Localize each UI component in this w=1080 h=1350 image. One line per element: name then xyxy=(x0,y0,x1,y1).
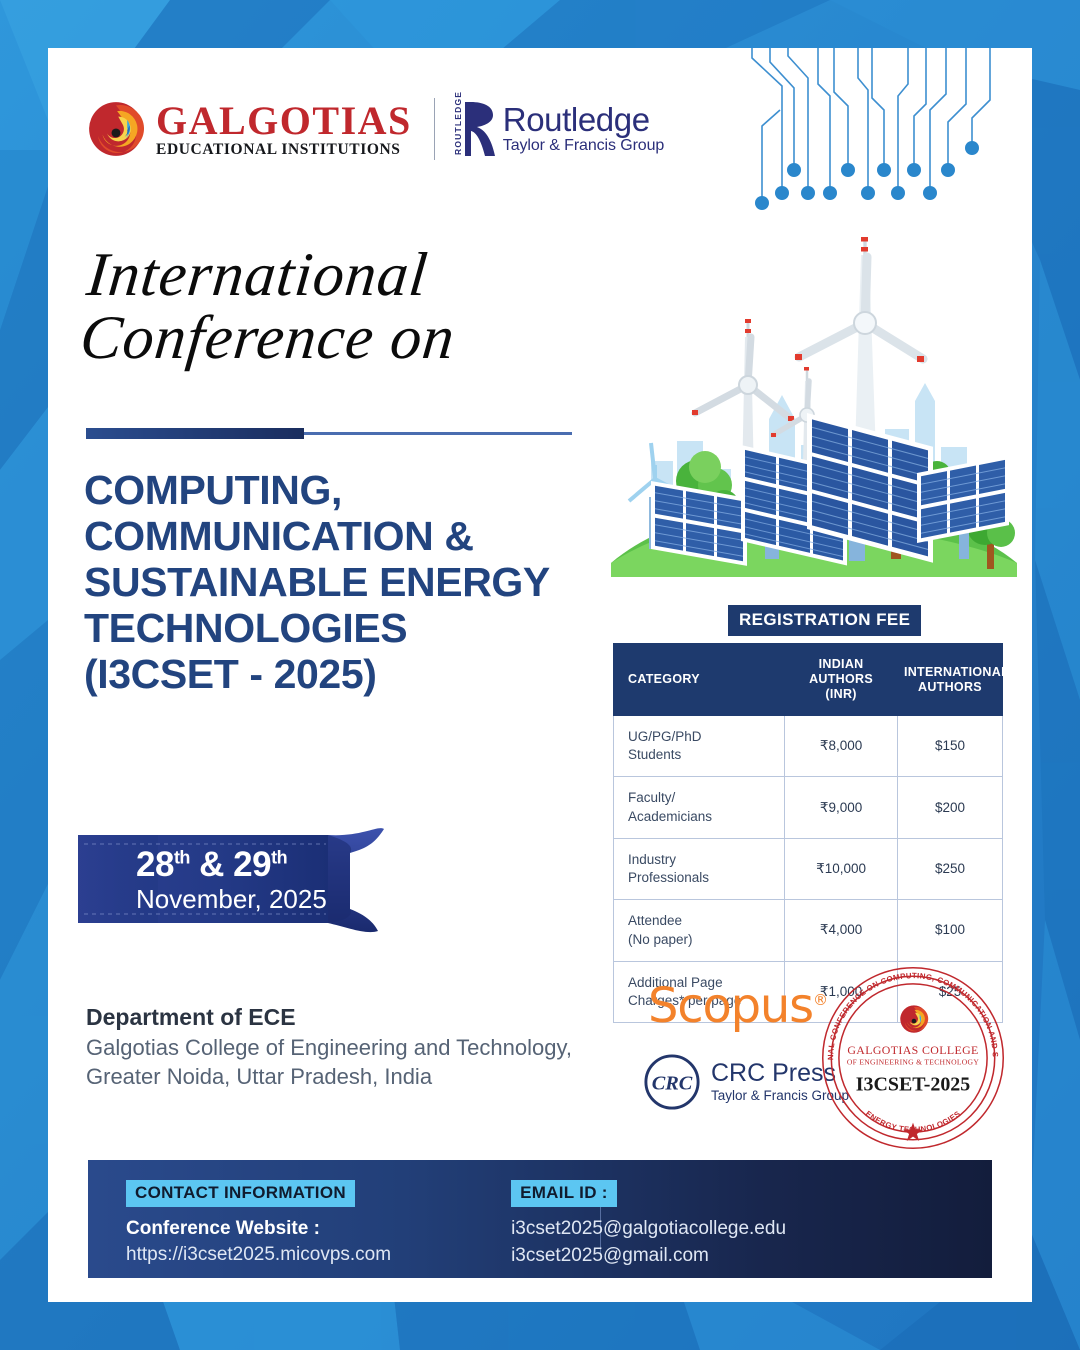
table-row: Faculty/ Academicians ₹9,000 $200 xyxy=(614,777,1003,838)
cell-category: Industry Professionals xyxy=(614,838,785,899)
main-title-line-2: COMMUNICATION & xyxy=(84,514,604,560)
routledge-logo: ROUTLEDGE Routledge Taylor & Francis Gro… xyxy=(453,100,664,158)
scopus-wordmark: Scopus xyxy=(648,978,813,1034)
table-header-row: CATEGORY INDIAN AUTHORS (INR) INTERNATIO… xyxy=(614,644,1003,716)
ribbon-day-2: 29 xyxy=(233,845,271,884)
cell-category-line2: Students xyxy=(628,747,681,762)
routledge-tagline: Taylor & Francis Group xyxy=(503,138,664,155)
galgotias-wordmark: GALGOTIAS xyxy=(156,101,412,141)
main-title-line-1: COMPUTING, xyxy=(84,468,604,514)
main-title-line-3: SUSTAINABLE ENERGY xyxy=(84,560,604,606)
ribbon-day-1-sup: th xyxy=(174,847,190,867)
main-title-line-4: TECHNOLOGIES xyxy=(84,606,604,652)
registration-fee-badge: REGISTRATION FEE xyxy=(728,605,921,636)
contact-information-tag: CONTACT INFORMATION xyxy=(126,1180,355,1207)
cell-category: Faculty/ Academicians xyxy=(614,777,785,838)
department-block: Department of ECE Galgotias College of E… xyxy=(86,1003,572,1091)
conference-script-title: International Conference on xyxy=(77,244,464,370)
cell-usd: $200 xyxy=(897,777,1002,838)
department-heading: Department of ECE xyxy=(86,1003,572,1033)
script-title-line-2: Conference on xyxy=(77,307,458,370)
column-header-indian-authors-line2: (INR) xyxy=(825,687,856,701)
routledge-face-icon xyxy=(465,100,499,158)
email-address-2[interactable]: i3cset2025@gmail.com xyxy=(511,1243,786,1270)
script-title-line-1: International xyxy=(84,244,465,307)
scopus-logo: Scopus® xyxy=(648,978,827,1034)
page-title: COMPUTING, COMMUNICATION & SUSTAINABLE E… xyxy=(84,468,604,698)
routledge-vertical-text: ROUTLEDGE xyxy=(453,103,463,155)
cell-category-line1: Industry xyxy=(628,852,676,867)
title-rule-thick xyxy=(86,428,304,439)
column-header-indian-authors: INDIAN AUTHORS (INR) xyxy=(785,644,898,716)
ribbon-month-year: November, 2025 xyxy=(136,885,327,915)
conference-website-url[interactable]: https://i3cset2025.micovps.com xyxy=(126,1242,391,1269)
email-address-1[interactable]: i3cset2025@galgotiacollege.edu xyxy=(511,1216,786,1243)
cell-category-line1: Attendee xyxy=(628,913,682,928)
ribbon-days: 28th & 29th xyxy=(136,847,327,884)
cell-category: UG/PG/PhD Students xyxy=(614,716,785,777)
header-logos: GALGOTIAS EDUCATIONAL INSTITUTIONS ROUTL… xyxy=(88,98,664,160)
title-rule xyxy=(86,426,572,442)
seal-college-sub: OF ENGINEERING & TECHNOLOGY xyxy=(847,1058,979,1067)
seal-college-name: GALGOTIAS COLLEGE xyxy=(847,1043,978,1057)
contact-right-column: EMAIL ID : i3cset2025@galgotiacollege.ed… xyxy=(391,1160,786,1269)
cell-category-line2: Professionals xyxy=(628,870,709,885)
cell-usd: $150 xyxy=(897,716,1002,777)
cell-inr: ₹8,000 xyxy=(785,716,898,777)
ribbon-day-2-sup: th xyxy=(271,847,287,867)
cell-category-line2: Academicians xyxy=(628,809,712,824)
cell-inr: ₹10,000 xyxy=(785,838,898,899)
galgotias-swirl-icon xyxy=(88,101,144,157)
department-line-1: Galgotias College of Engineering and Tec… xyxy=(86,1033,572,1062)
conference-seal: INTERNATIONAL CONFERENCE ON COMPUTING, C… xyxy=(818,963,1008,1153)
ribbon-date-text: 28th & 29th November, 2025 xyxy=(136,847,327,915)
table-row: Industry Professionals ₹10,000 $250 xyxy=(614,838,1003,899)
main-title-line-5: (I3CSET - 2025) xyxy=(84,652,604,698)
cell-inr: ₹4,000 xyxy=(785,900,898,961)
column-header-indian-authors-line1: INDIAN AUTHORS xyxy=(809,657,873,686)
contact-left-column: CONTACT INFORMATION Conference Website :… xyxy=(88,1160,391,1268)
seal-center-text: I3CSET-2025 xyxy=(856,1073,971,1095)
column-header-international-authors-line1: INTERNATIONAL xyxy=(904,665,1009,679)
cell-usd: $250 xyxy=(897,838,1002,899)
logo-divider xyxy=(434,98,435,160)
contact-bar: CONTACT INFORMATION Conference Website :… xyxy=(88,1160,992,1278)
cell-category: Attendee (No paper) xyxy=(614,900,785,961)
conference-date-ribbon: 28th & 29th November, 2025 xyxy=(78,823,398,943)
ribbon-ampersand: & xyxy=(190,845,233,884)
crc-circle-icon: CRC xyxy=(643,1053,701,1111)
renewable-energy-illustration xyxy=(593,233,1032,593)
table-row: UG/PG/PhD Students ₹8,000 $150 xyxy=(614,716,1003,777)
routledge-wordmark: Routledge xyxy=(503,103,664,138)
cell-category-line1: UG/PG/PhD xyxy=(628,729,702,744)
cell-usd: $100 xyxy=(897,900,1002,961)
svg-text:CRC: CRC xyxy=(652,1073,693,1095)
cell-category-line2: (No paper) xyxy=(628,932,693,947)
galgotias-subtitle: EDUCATIONAL INSTITUTIONS xyxy=(156,142,412,158)
column-header-international-authors-line2: AUTHORS xyxy=(918,680,982,694)
cell-inr: ₹9,000 xyxy=(785,777,898,838)
conference-website-label: Conference Website : xyxy=(126,1216,391,1242)
department-line-2: Greater Noida, Uttar Pradesh, India xyxy=(86,1062,572,1091)
cell-category-line1: Faculty/ xyxy=(628,790,675,805)
table-row: Attendee (No paper) ₹4,000 $100 xyxy=(614,900,1003,961)
title-rule-thin xyxy=(304,432,572,435)
column-header-category: CATEGORY xyxy=(614,644,785,716)
column-header-international-authors: INTERNATIONAL AUTHORS xyxy=(897,644,1002,716)
ribbon-day-1: 28 xyxy=(136,845,174,884)
poster-card: GALGOTIAS EDUCATIONAL INSTITUTIONS ROUTL… xyxy=(48,48,1032,1302)
email-id-tag: EMAIL ID : xyxy=(511,1180,617,1207)
